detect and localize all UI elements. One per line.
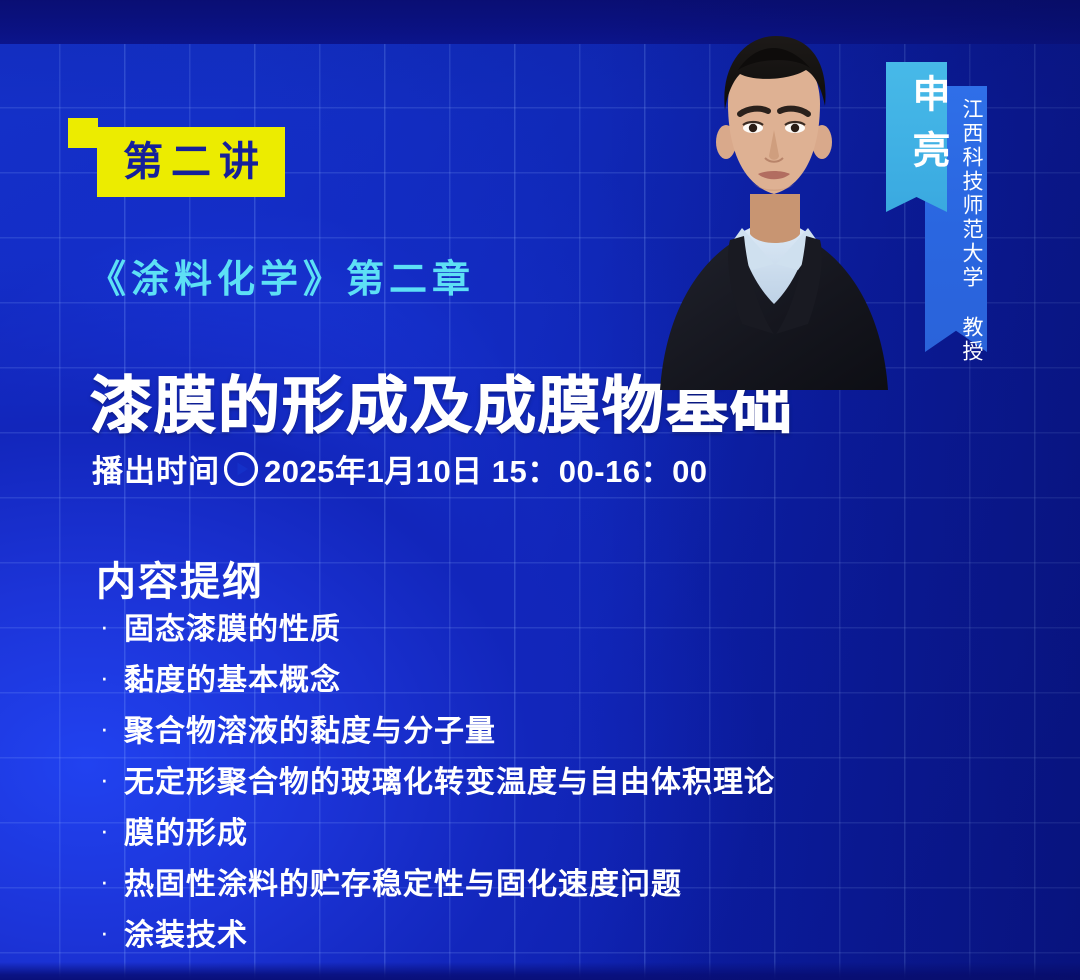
bullet-icon: ·: [100, 868, 124, 894]
list-item: · 涂装技术: [100, 910, 980, 960]
list-item-label: 涂装技术: [124, 910, 248, 954]
speaker-name: 申亮: [888, 74, 946, 186]
bullet-icon: ·: [100, 766, 124, 792]
course-subtitle: 《涂料化学》第二章: [88, 248, 475, 303]
outline-list: · 固态漆膜的性质 · 黏度的基本概念 · 聚合物溶液的黏度与分子量 · 无定形…: [100, 604, 980, 961]
broadcast-time-row: 播出时间 2025年1月10日 15：00-16：00: [92, 446, 708, 491]
list-item: · 无定形聚合物的玻璃化转变温度与自由体积理论: [100, 757, 980, 807]
bullet-icon: ·: [100, 664, 124, 690]
list-item: · 膜的形成: [100, 808, 980, 858]
play-icon: [224, 452, 258, 486]
list-item: · 黏度的基本概念: [100, 655, 980, 705]
bullet-icon: ·: [100, 715, 124, 741]
list-item-label: 黏度的基本概念: [124, 655, 341, 699]
list-item-label: 聚合物溶液的黏度与分子量: [124, 706, 496, 750]
broadcast-time-value: 2025年1月10日 15：00-16：00: [264, 446, 708, 491]
bullet-icon: ·: [100, 817, 124, 843]
list-item-label: 无定形聚合物的玻璃化转变温度与自由体积理论: [124, 757, 775, 801]
episode-badge: 第二讲: [97, 127, 285, 197]
list-item-label: 热固性涂料的贮存稳定性与固化速度问题: [124, 859, 682, 903]
list-item: · 热固性涂料的贮存稳定性与固化速度问题: [100, 859, 980, 909]
list-item-label: 固态漆膜的性质: [124, 604, 341, 648]
bullet-icon: ·: [100, 919, 124, 945]
yellow-square-icon: [68, 118, 98, 148]
speaker-photo: [626, 18, 918, 390]
list-item: · 聚合物溶液的黏度与分子量: [100, 706, 980, 756]
list-item-label: 膜的形成: [124, 808, 248, 852]
episode-badge-label: 第二讲: [115, 142, 267, 182]
broadcast-time-label: 播出时间: [92, 446, 220, 491]
bullet-icon: ·: [100, 613, 124, 639]
course-promo-poster: 江西科技师范大学 教授 申亮 第二讲 《涂料化学》第二章 漆膜的形成及成膜物基础…: [0, 0, 1080, 980]
outline-heading: 内容提纲: [96, 549, 264, 607]
list-item: · 固态漆膜的性质: [100, 604, 980, 654]
